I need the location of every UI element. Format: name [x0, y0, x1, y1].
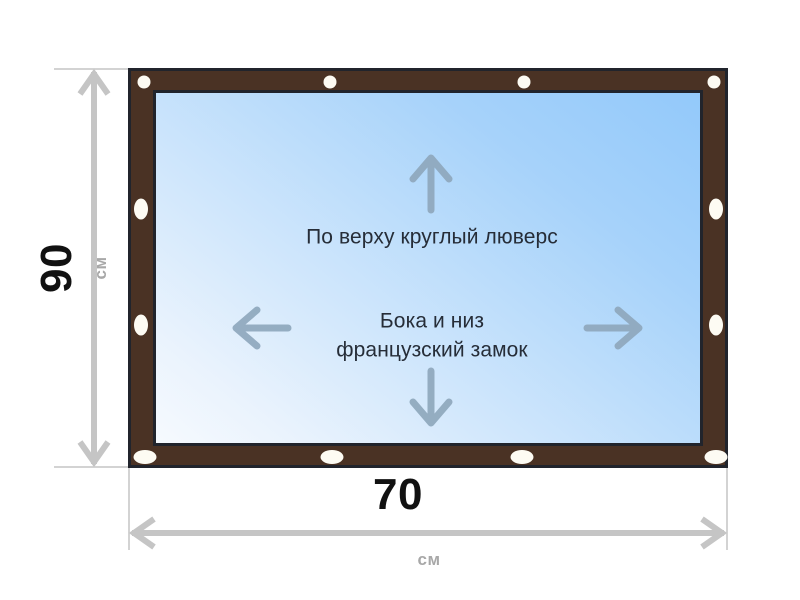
grommet-right-1	[709, 199, 723, 220]
arrow-down-icon	[408, 367, 454, 429]
grommet-bottom-4	[705, 450, 728, 464]
tarpaulin-product: По верху круглый люверс Бока и низ франц…	[128, 68, 728, 468]
arrow-up-icon	[408, 152, 454, 214]
grommet-left-1	[134, 199, 148, 220]
grommet-bottom-1	[134, 450, 157, 464]
arrow-right-icon	[583, 305, 645, 351]
top-eyelet-note: По верху круглый люверс	[306, 224, 558, 253]
grommet-top-4	[708, 76, 721, 89]
width-dimension-unit: см	[417, 550, 440, 570]
grommet-right-2	[709, 315, 723, 336]
tarpaulin-panel: По верху круглый люверс Бока и низ франц…	[153, 90, 703, 446]
grommet-top-1	[138, 76, 151, 89]
height-dimension-unit: см	[91, 256, 111, 279]
dimension-arrow-horizontal	[128, 515, 728, 551]
side-bottom-note: Бока и низ французский замок	[336, 307, 527, 364]
grommet-bottom-2	[321, 450, 344, 464]
grommet-left-2	[134, 315, 148, 336]
grommet-top-3	[518, 76, 531, 89]
diagram-canvas: 90 см 70 см	[0, 0, 800, 600]
grommet-bottom-3	[511, 450, 534, 464]
width-dimension-value: 70	[373, 470, 423, 520]
side-bottom-note-line-1: Бока и низ	[336, 307, 527, 336]
arrow-left-icon	[230, 305, 292, 351]
side-bottom-note-line-2: французский замок	[336, 336, 527, 365]
grommet-top-2	[324, 76, 337, 89]
height-dimension-value: 90	[32, 243, 82, 293]
